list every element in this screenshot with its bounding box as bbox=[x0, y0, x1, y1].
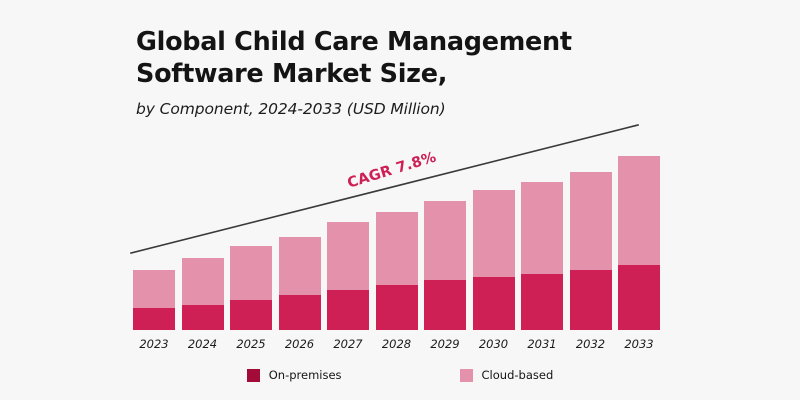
bar-segment-on-premises[interactable] bbox=[133, 308, 175, 330]
bar-segment-cloud-based[interactable] bbox=[424, 201, 466, 280]
x-axis-tick-label: 2023 bbox=[128, 337, 180, 351]
x-axis-tick-label: 2028 bbox=[371, 337, 423, 351]
bar-segment-on-premises[interactable] bbox=[618, 265, 660, 330]
x-axis-tick-label: 2029 bbox=[419, 337, 471, 351]
bar-segment-cloud-based[interactable] bbox=[521, 182, 563, 274]
bar-segment-cloud-based[interactable] bbox=[327, 222, 369, 290]
x-axis-tick-label: 2027 bbox=[322, 337, 374, 351]
plot-area: 2023202420252026202720282029203020312032… bbox=[0, 0, 800, 400]
bar-group[interactable] bbox=[327, 222, 369, 330]
x-axis-tick-label: 2026 bbox=[274, 337, 326, 351]
bar-segment-cloud-based[interactable] bbox=[279, 237, 321, 295]
bar-segment-on-premises[interactable] bbox=[279, 295, 321, 330]
bar-segment-on-premises[interactable] bbox=[230, 300, 272, 330]
x-axis-tick-label: 2032 bbox=[565, 337, 617, 351]
x-axis-tick-label: 2030 bbox=[468, 337, 520, 351]
bar-group[interactable] bbox=[618, 156, 660, 330]
bar-segment-on-premises[interactable] bbox=[521, 274, 563, 330]
x-axis-tick-label: 2024 bbox=[177, 337, 229, 351]
legend-label-cloud-based: Cloud-based bbox=[482, 368, 554, 382]
bar-group[interactable] bbox=[279, 237, 321, 330]
bar-group[interactable] bbox=[376, 212, 418, 330]
legend-swatch-icon bbox=[247, 369, 260, 382]
chart-infographic: Global Child Care Management Software Ma… bbox=[0, 0, 800, 400]
bar-segment-cloud-based[interactable] bbox=[570, 172, 612, 270]
bar-group[interactable] bbox=[133, 270, 175, 330]
bar-segment-on-premises[interactable] bbox=[182, 305, 224, 330]
legend-label-on-premises: On-premises bbox=[269, 368, 342, 382]
bar-group[interactable] bbox=[473, 190, 515, 330]
bar-segment-on-premises[interactable] bbox=[424, 280, 466, 330]
bar-group[interactable] bbox=[570, 172, 612, 330]
legend-swatch-icon bbox=[460, 369, 473, 382]
bar-segment-on-premises[interactable] bbox=[376, 285, 418, 330]
bar-group[interactable] bbox=[230, 246, 272, 330]
chart-legend: On-premises Cloud-based bbox=[0, 368, 800, 382]
x-axis-tick-label: 2031 bbox=[516, 337, 568, 351]
bar-segment-cloud-based[interactable] bbox=[473, 190, 515, 277]
bar-segment-cloud-based[interactable] bbox=[133, 270, 175, 308]
bar-segment-on-premises[interactable] bbox=[327, 290, 369, 330]
legend-item-cloud-based[interactable]: Cloud-based bbox=[460, 368, 554, 382]
bar-segment-cloud-based[interactable] bbox=[230, 246, 272, 300]
x-axis-tick-label: 2033 bbox=[613, 337, 665, 351]
bar-group[interactable] bbox=[521, 182, 563, 330]
bar-group[interactable] bbox=[182, 258, 224, 330]
legend-item-on-premises[interactable]: On-premises bbox=[247, 368, 342, 382]
bar-segment-cloud-based[interactable] bbox=[182, 258, 224, 305]
bar-segment-cloud-based[interactable] bbox=[376, 212, 418, 285]
bar-segment-cloud-based[interactable] bbox=[618, 156, 660, 265]
x-axis-tick-label: 2025 bbox=[225, 337, 277, 351]
bar-group[interactable] bbox=[424, 201, 466, 330]
bars-layer: 2023202420252026202720282029203020312032… bbox=[0, 0, 800, 400]
bar-segment-on-premises[interactable] bbox=[473, 277, 515, 330]
bar-segment-on-premises[interactable] bbox=[570, 270, 612, 330]
